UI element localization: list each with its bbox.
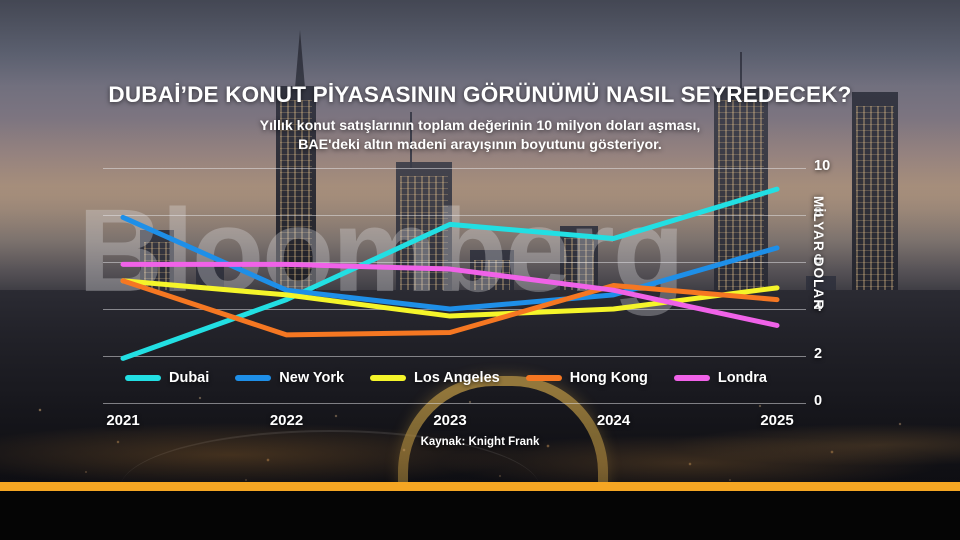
accent-bar xyxy=(0,482,960,491)
chart-source: Kaynak: Knight Frank xyxy=(0,436,960,448)
x-axis-tick: 2023 xyxy=(405,412,495,429)
legend-label: Dubai xyxy=(169,370,209,386)
legend-swatch xyxy=(370,375,406,381)
legend-swatch xyxy=(526,375,562,381)
legend-item-new-york[interactable]: New York xyxy=(235,370,344,386)
line-chart: 0246810 MİLYAR DOLAR 2021202220232024202… xyxy=(0,0,960,540)
x-axis-tick: 2025 xyxy=(732,412,822,429)
legend-item-los-angeles[interactable]: Los Angeles xyxy=(370,370,500,386)
legend-item-londra[interactable]: Londra xyxy=(674,370,767,386)
legend-label: Hong Kong xyxy=(570,370,648,386)
legend-item-hong-kong[interactable]: Hong Kong xyxy=(526,370,648,386)
legend-label: New York xyxy=(279,370,344,386)
x-axis-tick: 2022 xyxy=(242,412,332,429)
x-axis-tick: 2021 xyxy=(78,412,168,429)
chart-series-layer xyxy=(0,0,960,540)
infographic-stage: Bloomberg DUBAİ’DE KONUT PİYASASININ GÖR… xyxy=(0,0,960,540)
legend-swatch xyxy=(125,375,161,381)
legend-swatch xyxy=(235,375,271,381)
footer-bar: BLOOMBERGHT.COM Bloomberg H T xyxy=(0,491,960,540)
legend-item-dubai[interactable]: Dubai xyxy=(125,370,209,386)
legend-label: Los Angeles xyxy=(414,370,500,386)
legend-swatch xyxy=(674,375,710,381)
chart-legend: DubaiNew YorkLos AngelesHong KongLondra xyxy=(125,370,767,386)
legend-label: Londra xyxy=(718,370,767,386)
x-axis-tick: 2024 xyxy=(569,412,659,429)
